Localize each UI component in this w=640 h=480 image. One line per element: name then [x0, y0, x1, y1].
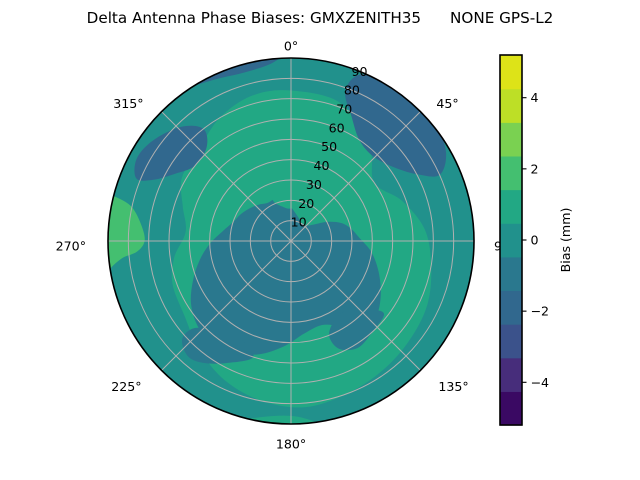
- colorbar-band-4: [500, 257, 522, 291]
- colorbar-band-2: [500, 324, 522, 358]
- colorbar-band-5: [500, 223, 522, 257]
- colorbar-band-7: [500, 156, 522, 190]
- colorbar[interactable]: −4−2024Bias (mm): [0, 0, 640, 480]
- colorbar-tick-label-3: 2: [531, 161, 539, 176]
- colorbar-band-0: [500, 391, 522, 425]
- colorbar-axis-label: Bias (mm): [558, 208, 573, 273]
- colorbar-tick-label-1: −2: [531, 304, 550, 319]
- colorbar-gradient[interactable]: [500, 55, 522, 426]
- colorbar-band-3: [500, 290, 522, 324]
- colorbar-band-8: [500, 122, 522, 156]
- colorbar-band-9: [500, 89, 522, 123]
- figure-canvas: Delta Antenna Phase Biases: GMXZENITH35 …: [0, 0, 640, 480]
- colorbar-band-1: [500, 358, 522, 392]
- colorbar-ticks: −4−2024: [522, 90, 549, 390]
- colorbar-band-10: [500, 55, 522, 89]
- colorbar-tick-label-4: 4: [531, 90, 539, 105]
- colorbar-band-6: [500, 190, 522, 224]
- colorbar-tick-label-2: 0: [531, 233, 539, 248]
- colorbar-tick-label-0: −4: [531, 375, 550, 390]
